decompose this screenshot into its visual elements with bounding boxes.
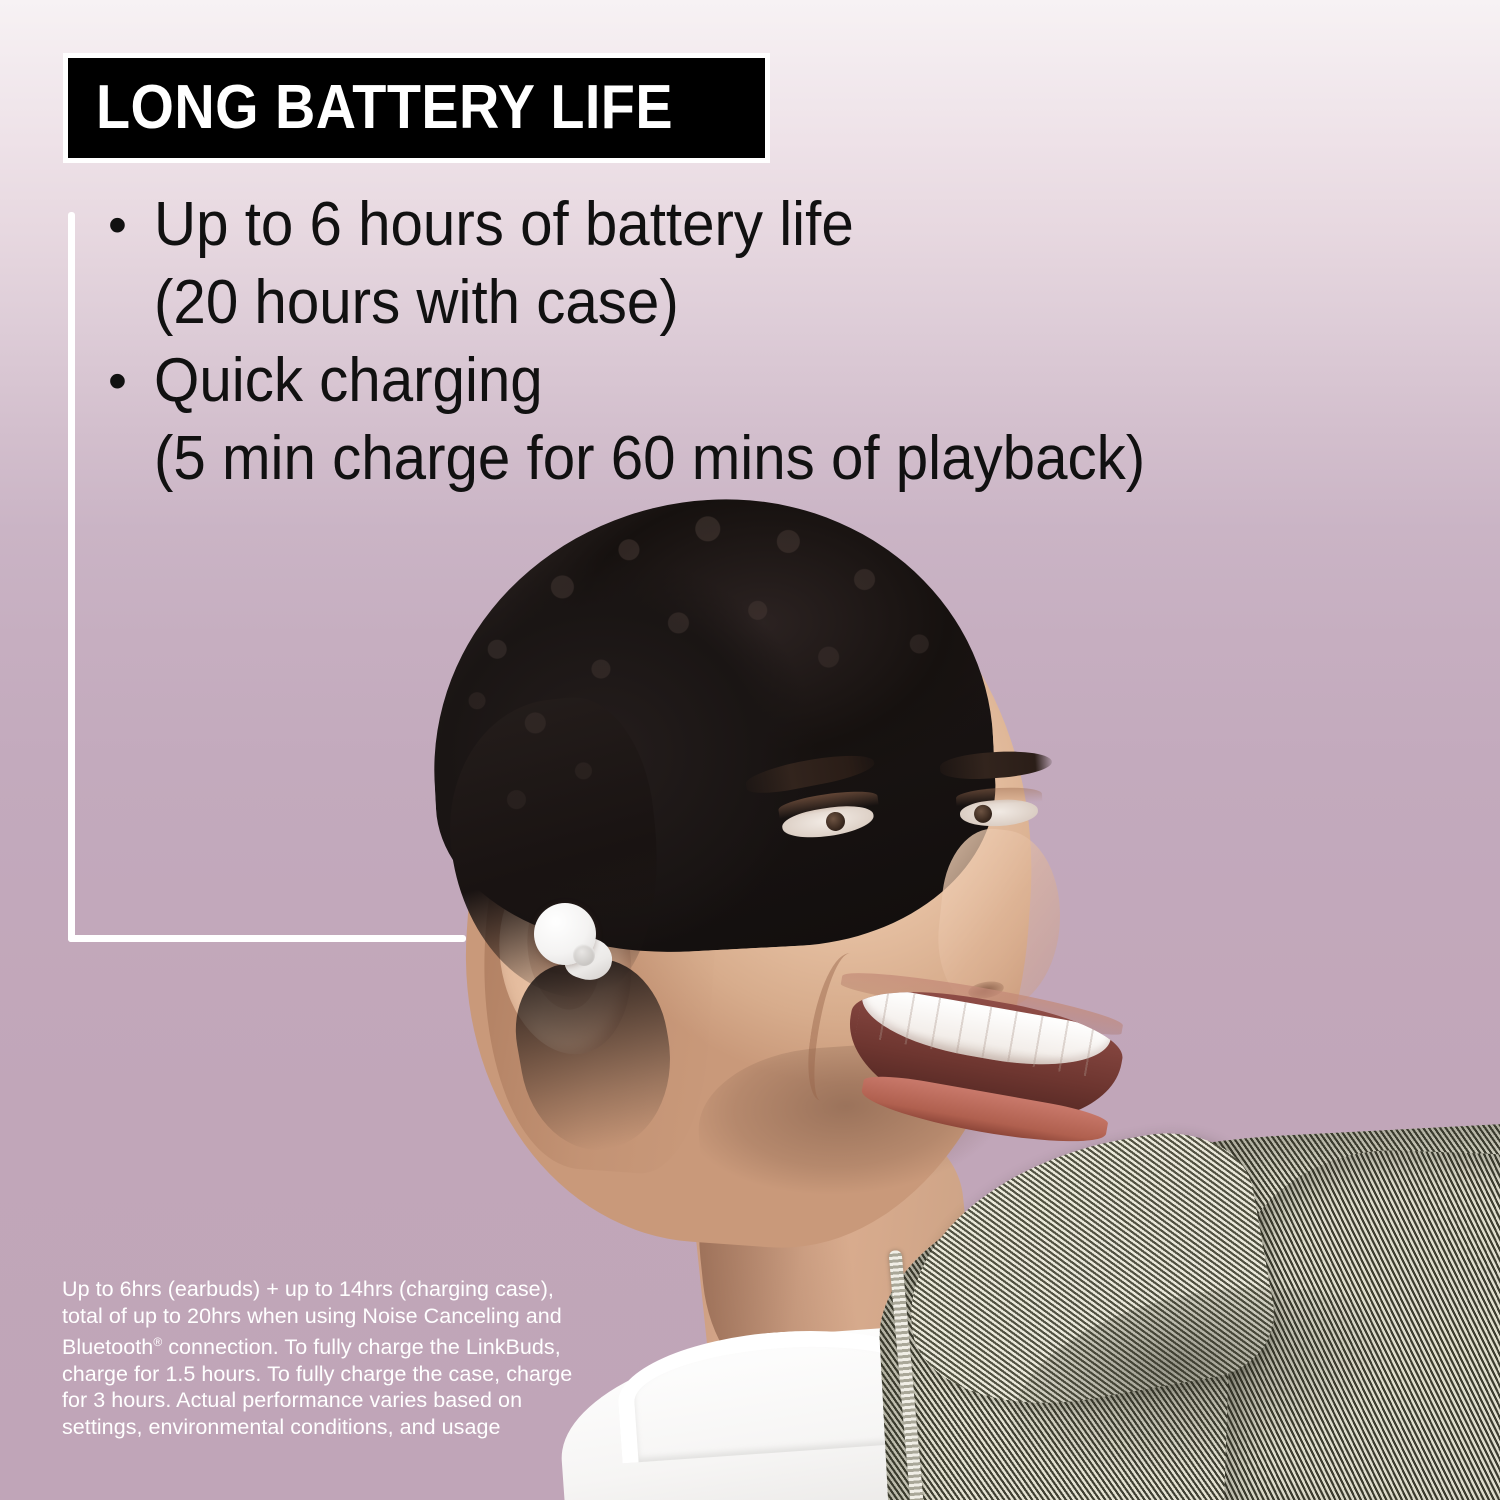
smile-crease	[802, 949, 869, 1104]
disclaimer-line: settings, environmental conditions, and …	[62, 1414, 582, 1441]
feature-bullet-list: • Up to 6 hours of battery life (20 hour…	[108, 186, 1368, 498]
bullet-line: (5 min charge for 60 mins of playback)	[154, 420, 1295, 498]
bullet-line: (20 hours with case)	[154, 264, 1295, 342]
disclaimer-brand: Bluetooth	[62, 1335, 153, 1359]
earbud-stem	[561, 932, 618, 986]
cheek-shadow	[470, 683, 733, 1178]
eye-right	[959, 798, 1038, 828]
eye-left	[780, 802, 875, 843]
eyebrow-left	[744, 748, 877, 798]
page-title: LONG BATTERY LIFE	[96, 77, 673, 139]
list-item: • Up to 6 hours of battery life (20 hour…	[108, 186, 1368, 342]
bracket-vertical-rule	[68, 212, 75, 942]
eyelid-left	[777, 787, 879, 819]
hair-curl-texture	[421, 480, 1012, 929]
bullet-text-group: Up to 6 hours of battery life (20 hours …	[154, 186, 1368, 342]
teeth	[855, 984, 1112, 1079]
disclaimer-text: Up to 6hrs (earbuds) + up to 14hrs (char…	[62, 1276, 582, 1440]
disclaimer-line: total of up to 20hrs when using Noise Ca…	[62, 1303, 582, 1330]
nose	[931, 824, 1069, 1016]
headline-inner: LONG BATTERY LIFE	[68, 58, 765, 158]
bracket-horizontal-rule	[68, 935, 466, 942]
upper-lip	[840, 963, 1125, 1038]
eyelid-right	[956, 786, 1043, 806]
lower-lip	[858, 1071, 1109, 1153]
registered-mark: ®	[153, 1335, 162, 1349]
bullet-text-group: Quick charging (5 min charge for 60 mins…	[154, 342, 1368, 498]
jacket-fold-shadow	[996, 1261, 1454, 1500]
mouth	[837, 977, 1129, 1143]
disclaimer-line: Bluetooth® connection. To fully charge t…	[62, 1329, 582, 1361]
disclaimer-line: for 3 hours. Actual performance varies b…	[62, 1387, 582, 1414]
ear-inner	[520, 886, 608, 1015]
face	[446, 526, 1053, 1263]
jacket	[870, 1119, 1500, 1500]
hair-nape	[505, 948, 686, 1161]
hair	[421, 486, 1004, 965]
eyebrow-right	[939, 748, 1053, 782]
disclaimer-line-rest: connection. To fully charge the LinkBuds…	[162, 1335, 561, 1359]
nostril	[967, 979, 1005, 1001]
jacket-lapel	[886, 1119, 1284, 1428]
bullet-line: Quick charging	[154, 342, 1295, 420]
earbud-ring-detail	[573, 944, 595, 966]
product-feature-card: LONG BATTERY LIFE • Up to 6 hours of bat…	[0, 0, 1500, 1500]
bullet-line: Up to 6 hours of battery life	[154, 186, 1295, 264]
disclaimer-line: Up to 6hrs (earbuds) + up to 14hrs (char…	[62, 1276, 582, 1303]
beard-stubble	[693, 1034, 1036, 1257]
bullet-dot-icon: •	[108, 186, 154, 264]
earbud	[534, 903, 596, 965]
hair-sideburn	[437, 690, 672, 1010]
jacket-zipper	[888, 1250, 924, 1500]
white-tshirt	[554, 1309, 1166, 1500]
neck	[685, 1107, 985, 1434]
bullet-dot-icon: •	[108, 342, 154, 420]
jacket-shoulder	[1224, 1145, 1500, 1500]
list-item: • Quick charging (5 min charge for 60 mi…	[108, 342, 1368, 498]
ear	[487, 847, 644, 1063]
disclaimer-line: charge for 1.5 hours. To fully charge th…	[62, 1361, 582, 1388]
headline-banner: LONG BATTERY LIFE	[63, 53, 770, 163]
neck-shadow	[687, 1113, 863, 1387]
tshirt-collar	[614, 1321, 952, 1464]
